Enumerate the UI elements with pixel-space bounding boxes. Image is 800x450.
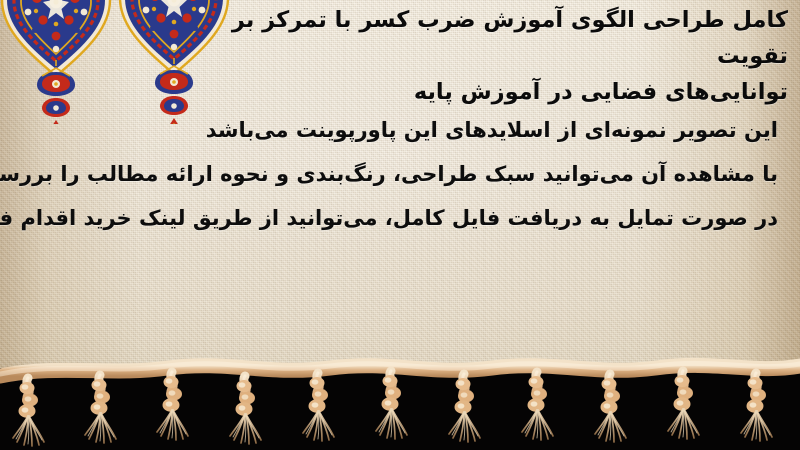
slide-canvas: کامل طراحی الگوی آموزش ضرب کسر با تمرکز … [0, 0, 800, 450]
tassel-item [85, 375, 116, 443]
tassel-item [741, 373, 772, 441]
tassel-item [668, 371, 699, 439]
slide-body-line-1: این تصویر نمونه‌ای از اسلایدهای این پاور… [78, 108, 778, 152]
slide-title-line-1: کامل طراحی الگوی آموزش ضرب کسر با تمرکز … [232, 7, 788, 69]
tassel-item [595, 374, 626, 442]
slide-body-line-3: در صورت تمایل به دریافت فایل کامل، می‌تو… [78, 196, 778, 240]
slide-title-line-2: توانایی‌های فضایی در آموزش پایه [414, 79, 788, 105]
tassel-item [449, 374, 480, 442]
tassel-item [230, 376, 261, 444]
slide-body: این تصویر نمونه‌ای از اسلایدهای این پاور… [78, 108, 778, 240]
slide-body-line-2: با مشاهده آن می‌توانید سبک طراحی، رنگ‌بن… [78, 152, 778, 196]
tassel-fringe [0, 352, 800, 450]
tassel-item [376, 371, 407, 439]
slide-title: کامل طراحی الگوی آموزش ضرب کسر با تمرکز … [228, 2, 788, 110]
tassel-item [13, 378, 44, 446]
tassel-item [303, 373, 334, 441]
ornament-group [0, 0, 250, 124]
tassel-item [157, 372, 188, 440]
tassel-item [522, 372, 553, 440]
